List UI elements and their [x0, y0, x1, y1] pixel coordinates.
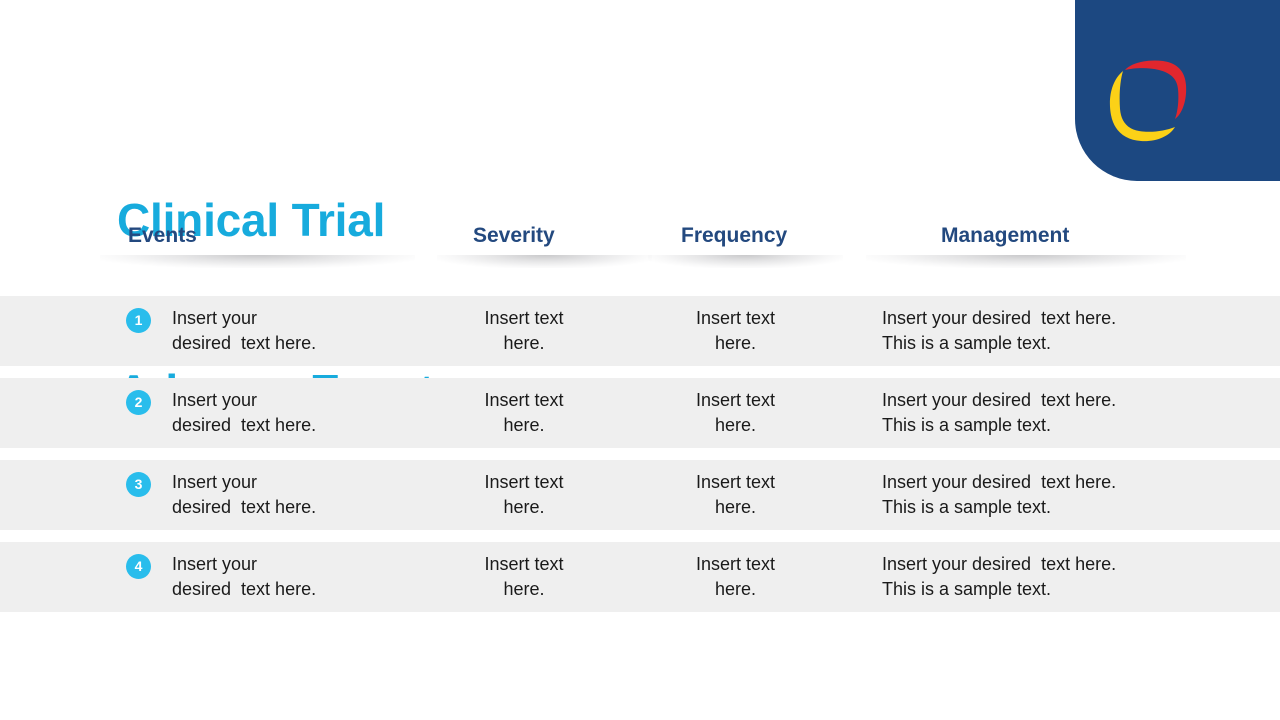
cell-frequency-line-1: Insert text	[638, 388, 833, 413]
cell-management-line-1: Insert your desired text here.	[882, 306, 1182, 331]
header-divider-events	[100, 255, 415, 268]
table-row[interactable]: 1 Insert your desired text here. Insert …	[0, 296, 1280, 366]
cell-events-line-2: desired text here.	[172, 577, 422, 602]
header-divider-frequency	[648, 255, 843, 268]
cell-severity-line-1: Insert text	[425, 306, 623, 331]
cell-management: Insert your desired text here. This is a…	[882, 306, 1182, 356]
cell-severity-line-1: Insert text	[425, 470, 623, 495]
row-number-badge: 1	[126, 308, 151, 333]
adverse-events-table: Events Severity Frequency Management 1 I…	[0, 224, 1280, 624]
row-number-badge: 3	[126, 472, 151, 497]
cell-severity-line-2: here.	[425, 495, 623, 520]
cell-events: Insert your desired text here.	[172, 470, 422, 520]
cell-severity: Insert text here.	[425, 552, 623, 602]
header-divider-management	[866, 255, 1186, 268]
cell-frequency-line-2: here.	[638, 413, 833, 438]
column-header-events: Events	[128, 224, 197, 248]
cell-severity: Insert text here.	[425, 470, 623, 520]
cell-management: Insert your desired text here. This is a…	[882, 470, 1182, 520]
cell-severity-line-2: here.	[425, 577, 623, 602]
cell-management-line-1: Insert your desired text here.	[882, 470, 1182, 495]
cell-frequency: Insert text here.	[638, 306, 833, 356]
cell-events-line-1: Insert your	[172, 470, 422, 495]
table-row[interactable]: 2 Insert your desired text here. Insert …	[0, 378, 1280, 448]
column-header-management: Management	[941, 224, 1069, 248]
cell-severity: Insert text here.	[425, 388, 623, 438]
cell-events: Insert your desired text here.	[172, 388, 422, 438]
cell-events-line-2: desired text here.	[172, 495, 422, 520]
cell-frequency-line-1: Insert text	[638, 470, 833, 495]
cell-frequency-line-2: here.	[638, 331, 833, 356]
cell-events-line-1: Insert your	[172, 306, 422, 331]
cell-frequency-line-1: Insert text	[638, 552, 833, 577]
row-number-badge: 4	[126, 554, 151, 579]
cell-frequency: Insert text here.	[638, 552, 833, 602]
cell-severity: Insert text here.	[425, 306, 623, 356]
cell-frequency-line-1: Insert text	[638, 306, 833, 331]
cell-severity-line-1: Insert text	[425, 552, 623, 577]
row-number-badge: 2	[126, 390, 151, 415]
cell-management-line-2: This is a sample text.	[882, 577, 1182, 602]
cell-severity-line-1: Insert text	[425, 388, 623, 413]
cell-frequency: Insert text here.	[638, 388, 833, 438]
table-row[interactable]: 4 Insert your desired text here. Insert …	[0, 542, 1280, 612]
brand-logo-panel	[1075, 0, 1280, 181]
cell-events-line-1: Insert your	[172, 552, 422, 577]
table-row[interactable]: 3 Insert your desired text here. Insert …	[0, 460, 1280, 530]
cell-frequency: Insert text here.	[638, 470, 833, 520]
cell-management-line-1: Insert your desired text here.	[882, 552, 1182, 577]
cell-severity-line-2: here.	[425, 331, 623, 356]
cell-management: Insert your desired text here. This is a…	[882, 552, 1182, 602]
cell-severity-line-2: here.	[425, 413, 623, 438]
cell-management-line-2: This is a sample text.	[882, 413, 1182, 438]
table-header-row: Events Severity Frequency Management	[0, 224, 1280, 296]
cell-management-line-2: This is a sample text.	[882, 495, 1182, 520]
cell-events: Insert your desired text here.	[172, 552, 422, 602]
cell-events-line-2: desired text here.	[172, 331, 422, 356]
column-header-frequency: Frequency	[681, 224, 787, 248]
abstract-ring-logo-icon	[1103, 55, 1195, 147]
cell-frequency-line-2: here.	[638, 577, 833, 602]
cell-management: Insert your desired text here. This is a…	[882, 388, 1182, 438]
cell-events: Insert your desired text here.	[172, 306, 422, 356]
header-divider-severity	[437, 255, 652, 268]
cell-frequency-line-2: here.	[638, 495, 833, 520]
column-header-severity: Severity	[473, 224, 555, 248]
cell-events-line-1: Insert your	[172, 388, 422, 413]
cell-events-line-2: desired text here.	[172, 413, 422, 438]
cell-management-line-1: Insert your desired text here.	[882, 388, 1182, 413]
cell-management-line-2: This is a sample text.	[882, 331, 1182, 356]
